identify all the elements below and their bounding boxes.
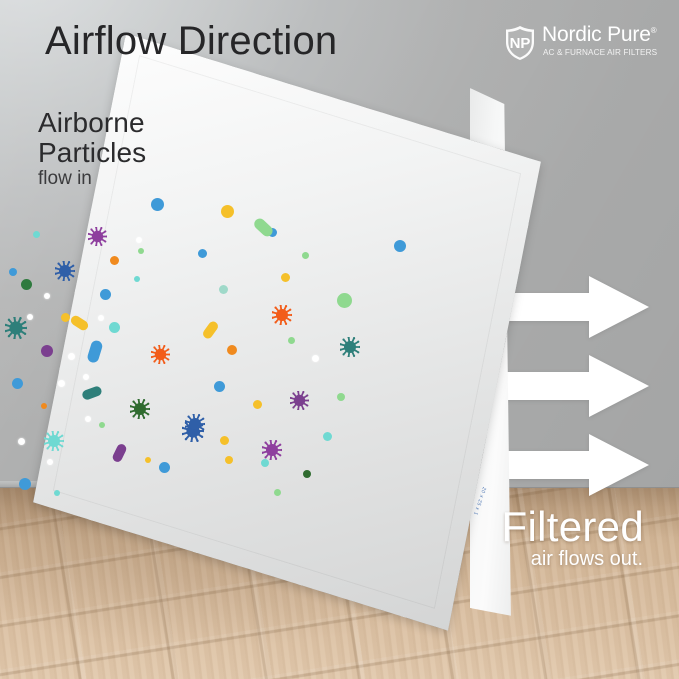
particle-dot [44, 293, 50, 299]
particle-dot [83, 374, 89, 380]
particle-dot [18, 438, 25, 445]
particle-on-filter [221, 205, 234, 218]
logo-tagline: AC & FURNACE AIR FILTERS [543, 48, 657, 57]
particle-on-filter [337, 293, 352, 308]
particle-on-filter [323, 432, 332, 441]
germ-particle [185, 414, 205, 434]
particle-dot [145, 457, 151, 463]
nordic-pure-logo: NP Nordic Pure® AC & FURNACE AIR FILTERS [504, 25, 656, 63]
particle-dot [110, 256, 119, 265]
particle-dot [27, 314, 33, 320]
logo-brand-name: Nordic Pure® [542, 23, 656, 47]
particle-dot [98, 315, 104, 321]
particle-dot [134, 276, 140, 282]
page-title: Airflow Direction [45, 19, 337, 64]
germ-particle [272, 305, 292, 325]
particle-on-filter [394, 240, 406, 252]
germ-particle [130, 399, 150, 419]
particle-dot [54, 490, 60, 496]
air-flows-out-label: air flows out. [531, 548, 643, 571]
particle-dot [41, 345, 53, 357]
particle-on-filter [220, 436, 229, 445]
particle-dot [58, 380, 65, 387]
particle-on-filter [214, 381, 225, 392]
germ-particle [55, 261, 75, 281]
particle-dot [61, 313, 70, 322]
germ-particle [44, 431, 64, 451]
particle-on-filter [261, 459, 269, 467]
germ-particle [340, 337, 360, 357]
particle-on-filter [225, 456, 233, 464]
germ-particle [88, 227, 107, 246]
logo-monogram-text: NP [510, 35, 531, 52]
particle-on-filter [253, 400, 262, 409]
particle-dot [138, 248, 144, 254]
germ-particle [151, 345, 170, 364]
particle-on-filter [227, 345, 237, 355]
particle-on-filter [159, 462, 170, 473]
particle-dot [33, 231, 40, 238]
particle-dot [19, 478, 31, 490]
particle-on-filter [281, 273, 290, 282]
particle-dot [99, 422, 105, 428]
particle-dot [109, 322, 120, 333]
particle-dot [41, 403, 47, 409]
particle-dot [100, 289, 111, 300]
flow-in-label: flow in [38, 168, 92, 190]
logo-brand-text: Nordic Pure [542, 23, 651, 46]
germ-particle [5, 317, 27, 339]
shield-icon: NP [504, 25, 536, 61]
airborne-line-1: Airborne [38, 108, 146, 138]
particle-on-filter [274, 489, 281, 496]
filtered-label: Filtered [502, 503, 644, 551]
airflow-direction-infographic: 20 x 25 x 1 Airflow Direction Airborne P… [0, 0, 679, 679]
airborne-line-2: Particles [38, 138, 146, 168]
particle-dot [12, 378, 23, 389]
particle-dot [151, 198, 164, 211]
germ-particle [262, 440, 282, 460]
particle-dot [68, 353, 75, 360]
particle-dot [47, 459, 53, 465]
particle-dot [85, 416, 91, 422]
particle-on-filter [302, 252, 309, 259]
particle-dot [21, 279, 32, 290]
particle-on-filter [288, 337, 295, 344]
airborne-particles-label: Airborne Particles [38, 108, 146, 168]
particle-dot [136, 237, 142, 243]
particle-on-filter [198, 249, 207, 258]
particle-on-filter [312, 355, 319, 362]
logo-registered-mark: ® [651, 26, 657, 35]
germ-particle [290, 391, 309, 410]
particle-on-filter [337, 393, 345, 401]
particle-on-filter [303, 470, 311, 478]
particle-dot [9, 268, 17, 276]
particle-on-filter [219, 285, 228, 294]
